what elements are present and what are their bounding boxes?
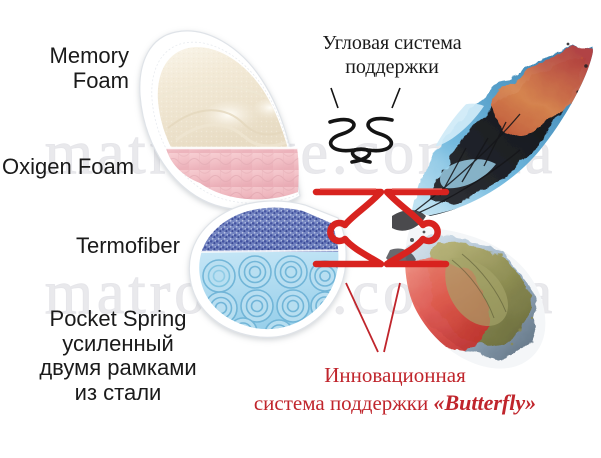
spring-coil: [203, 260, 235, 292]
corner-support-leader-lines: [331, 88, 400, 108]
right-wings-watercolor: [386, 33, 597, 380]
label-oxigen-foam: Oxigen Foam: [2, 155, 134, 180]
label-termofiber: Termofiber: [76, 234, 180, 259]
lower-right-wing: [400, 220, 560, 380]
corner-spring-right: [353, 119, 393, 162]
butterfly-line-1: Инновационная: [190, 362, 600, 389]
corner-support-springs: [330, 119, 392, 162]
butterfly-leader-lines: [346, 283, 400, 352]
label-butterfly-system: Инновационная система поддержки «Butterf…: [190, 362, 600, 417]
infographic-canvas: matroluxe.com.ua matroluxe.com.ua: [0, 0, 601, 458]
label-memory-foam: Memory Foam: [0, 44, 129, 93]
corner-spring-left: [330, 120, 370, 162]
butterfly-line-2-text: система поддержки: [254, 391, 434, 415]
butterfly-brand-name: «Butterfly»: [433, 390, 536, 415]
butterfly-line-2: система поддержки «Butterfly»: [190, 389, 600, 417]
label-corner-support: Угловая система поддержки: [277, 32, 507, 79]
